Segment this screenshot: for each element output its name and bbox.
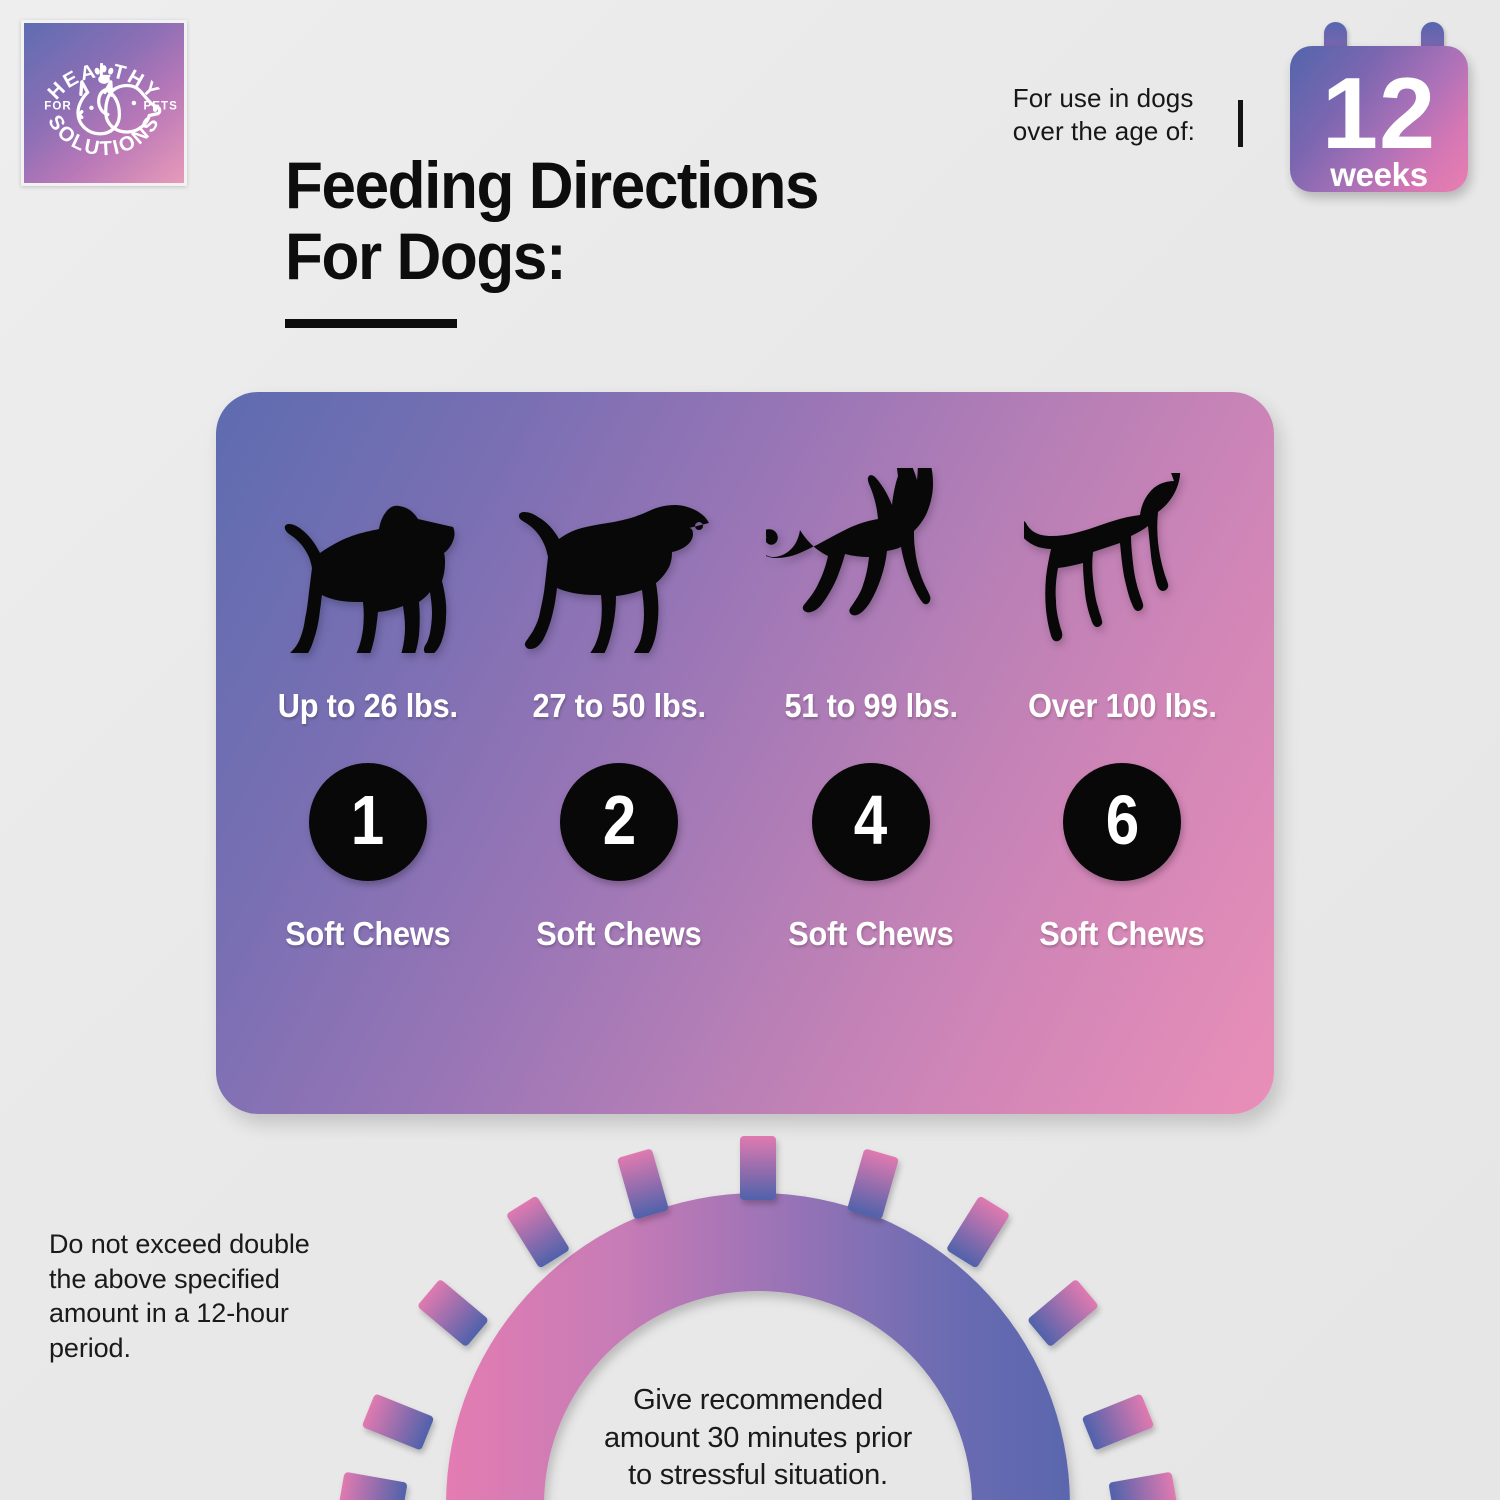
dose-circle: 2	[560, 763, 678, 881]
dose-unit-label: Soft Chews	[285, 915, 450, 953]
dose-number: 6	[1106, 785, 1139, 855]
weight-label: Up to 26 lbs.	[278, 687, 458, 725]
brand-logo: HEALTHY SOLUTIONS	[21, 20, 187, 186]
calendar-number: 12	[1290, 64, 1468, 165]
terrier-dog-icon	[253, 438, 483, 653]
dose-circle: 1	[309, 763, 427, 881]
dose-number: 4	[854, 785, 887, 855]
age-requirement-text: For use in dogs over the age of:	[1013, 82, 1195, 148]
feeding-directions-panel: HEALTHY SOLUTIONS	[0, 0, 1500, 1500]
dose-unit-label: Soft Chews	[1040, 915, 1205, 953]
jack-russell-dog-icon	[504, 438, 734, 653]
dose-number: 1	[351, 785, 384, 855]
weight-label: 27 to 50 lbs.	[533, 687, 706, 725]
page-title: Feeding Directions For Dogs:	[285, 150, 999, 293]
dosage-grid: Up to 26 lbs. 1 Soft Chews 27 to 50 lbs.…	[242, 438, 1248, 1078]
dosage-column: Over 100 lbs. 6 Soft Chews	[997, 438, 1249, 1078]
logo-for-text: FOR	[44, 101, 72, 113]
dose-unit-label: Soft Chews	[537, 915, 702, 953]
calendar-icon: 12 weeks	[1290, 22, 1468, 192]
dose-circle: 6	[1063, 763, 1181, 881]
timing-instruction-text: Give recommended amount 30 minutes prior…	[328, 1382, 1188, 1495]
dose-circle: 4	[812, 763, 930, 881]
title-underline-rule	[285, 319, 457, 328]
title-block: Feeding Directions For Dogs:	[285, 150, 1045, 328]
logo-pets-text: PETS	[144, 101, 178, 113]
vertical-divider	[1238, 100, 1243, 147]
dosage-column: 27 to 50 lbs. 2 Soft Chews	[494, 438, 746, 1078]
weight-label: 51 to 99 lbs.	[784, 687, 957, 725]
dosage-column: 51 to 99 lbs. 4 Soft Chews	[745, 438, 997, 1078]
dose-number: 2	[603, 785, 636, 855]
weight-label: Over 100 lbs.	[1028, 687, 1217, 725]
calendar-unit: weeks	[1290, 158, 1468, 191]
dosage-card: Up to 26 lbs. 1 Soft Chews 27 to 50 lbs.…	[216, 392, 1274, 1114]
shepherd-dog-icon	[756, 438, 986, 653]
timing-arc-graphic: Give recommended amount 30 minutes prior…	[328, 1160, 1188, 1500]
calendar-body: 12 weeks	[1290, 46, 1468, 192]
dosage-column: Up to 26 lbs. 1 Soft Chews	[242, 438, 494, 1078]
mastiff-dog-icon	[1007, 438, 1237, 653]
dose-unit-label: Soft Chews	[788, 915, 953, 953]
brand-logo-artwork: HEALTHY SOLUTIONS	[24, 23, 184, 183]
